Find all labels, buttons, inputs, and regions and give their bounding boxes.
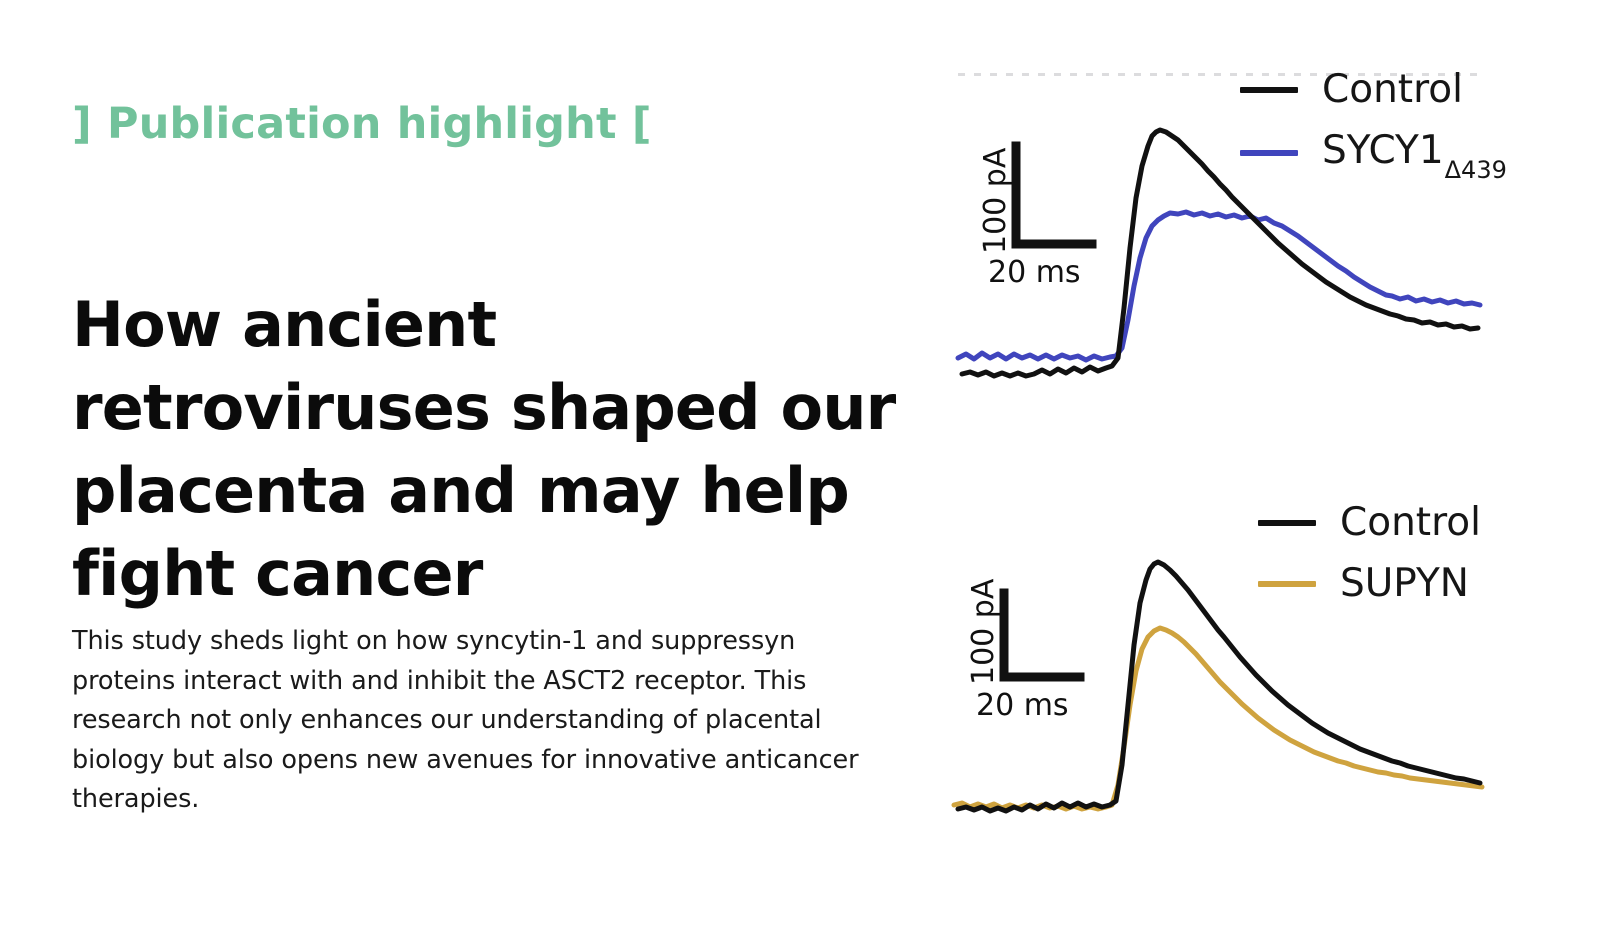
trace-line-sycy1 [958, 212, 1480, 360]
trace-plot-top [940, 58, 1540, 418]
chart-panel-bottom: 100 pA 20 ms Control SUPYN [940, 485, 1540, 845]
trace-plot-bottom [940, 485, 1540, 845]
body-paragraph: This study sheds light on how syncytin-1… [72, 622, 882, 820]
trace-line-supyn [954, 628, 1482, 809]
figure-column: 100 pA 20 ms Control SYCY1Δ439 [940, 0, 1600, 931]
text-column: ] Publication highlight [ How ancient re… [72, 0, 912, 931]
publication-highlight-slide: ] Publication highlight [ How ancient re… [0, 0, 1600, 931]
chart-panel-top: 100 pA 20 ms Control SYCY1Δ439 [940, 58, 1540, 418]
eyebrow-label: ] Publication highlight [ [72, 101, 652, 148]
page-title: How ancient retroviruses shaped our plac… [72, 283, 922, 615]
trace-line-control-top [962, 130, 1478, 376]
